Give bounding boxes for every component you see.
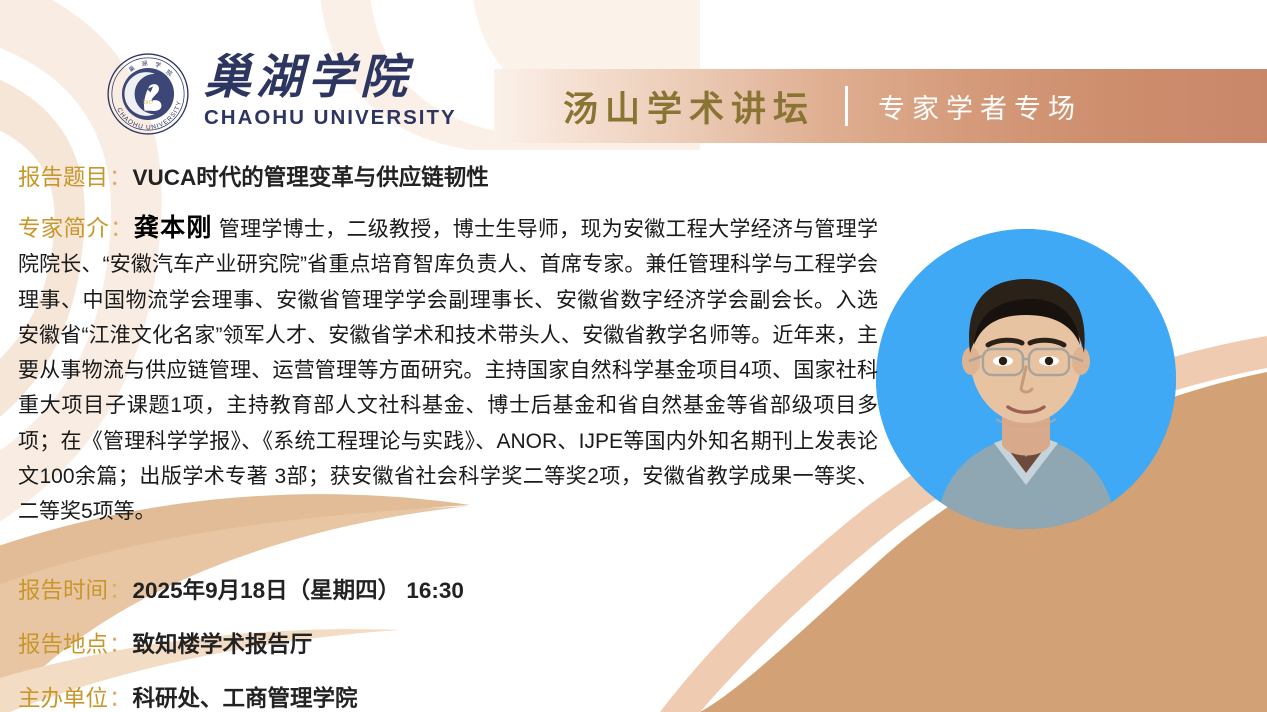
report-title-colon: ：	[108, 160, 133, 192]
svg-text:学: 学	[154, 60, 162, 69]
report-host-value: 科研处、工商管理学院	[133, 681, 358, 712]
seminar-poster: 1977 巢 湖 学 院 CHAOHU UNIVERSITY 巢湖学院 CHAO…	[0, 0, 1267, 712]
report-place-label: 报告地点	[18, 627, 108, 659]
speaker-name: 龚本刚	[134, 214, 213, 242]
report-time-row: 报告时间 ： 2025年9月18日（星期四） 16:30	[18, 573, 464, 605]
speaker-photo	[876, 229, 1176, 529]
svg-text:1977: 1977	[143, 100, 154, 105]
poster-header: 1977 巢 湖 学 院 CHAOHU UNIVERSITY 巢湖学院 CHAO…	[0, 0, 1267, 150]
report-time-value: 2025年9月18日（星期四） 16:30	[133, 573, 464, 605]
speaker-portrait	[876, 229, 1176, 529]
report-host-row: 主办单位 ： 科研处、工商管理学院	[18, 681, 358, 712]
university-name-en: CHAOHU UNIVERSITY	[204, 106, 457, 130]
forum-banner: 汤山学术讲坛 专家学者专场	[494, 69, 1267, 143]
forum-subtitle: 专家学者专场	[878, 87, 1082, 126]
report-title-value: VUCA时代的管理变革与供应链韧性	[133, 160, 489, 192]
report-host-colon: ：	[108, 681, 133, 712]
speaker-bio-colon: ：	[109, 216, 134, 241]
banner-divider	[845, 86, 848, 126]
report-place-value: 致知楼学术报告厅	[133, 627, 313, 659]
university-name-block: 巢湖学院 CHAOHU UNIVERSITY	[204, 52, 457, 130]
report-title-row: 报告题目 ： VUCA时代的管理变革与供应链韧性	[18, 160, 489, 192]
forum-title: 汤山学术讲坛	[563, 81, 815, 132]
report-title-label: 报告题目	[18, 160, 108, 192]
university-seal-icon: 1977 巢 湖 学 院 CHAOHU UNIVERSITY	[106, 52, 190, 136]
report-time-colon: ：	[108, 573, 133, 605]
report-time-label: 报告时间	[18, 573, 108, 605]
university-name-cn: 巢湖学院	[204, 52, 412, 104]
speaker-bio-label: 专家简介	[18, 216, 109, 241]
speaker-bio-body: 管理学博士，二级教授，博士生导师，现为安徽工程大学经济与管理学院院长、“安徽汽车…	[18, 218, 878, 523]
report-host-label: 主办单位	[18, 681, 108, 712]
report-place-row: 报告地点 ： 致知楼学术报告厅	[18, 627, 313, 659]
report-place-colon: ：	[108, 627, 133, 659]
university-logo: 1977 巢 湖 学 院 CHAOHU UNIVERSITY 巢湖学院 CHAO…	[106, 52, 457, 136]
svg-text:湖: 湖	[141, 59, 149, 68]
speaker-bio-text: 专家简介：龚本刚 管理学博士，二级教授，博士生导师，现为安徽工程大学经济与管理学…	[18, 211, 878, 530]
speaker-bio-row: 专家简介：龚本刚 管理学博士，二级教授，博士生导师，现为安徽工程大学经济与管理学…	[18, 211, 878, 530]
